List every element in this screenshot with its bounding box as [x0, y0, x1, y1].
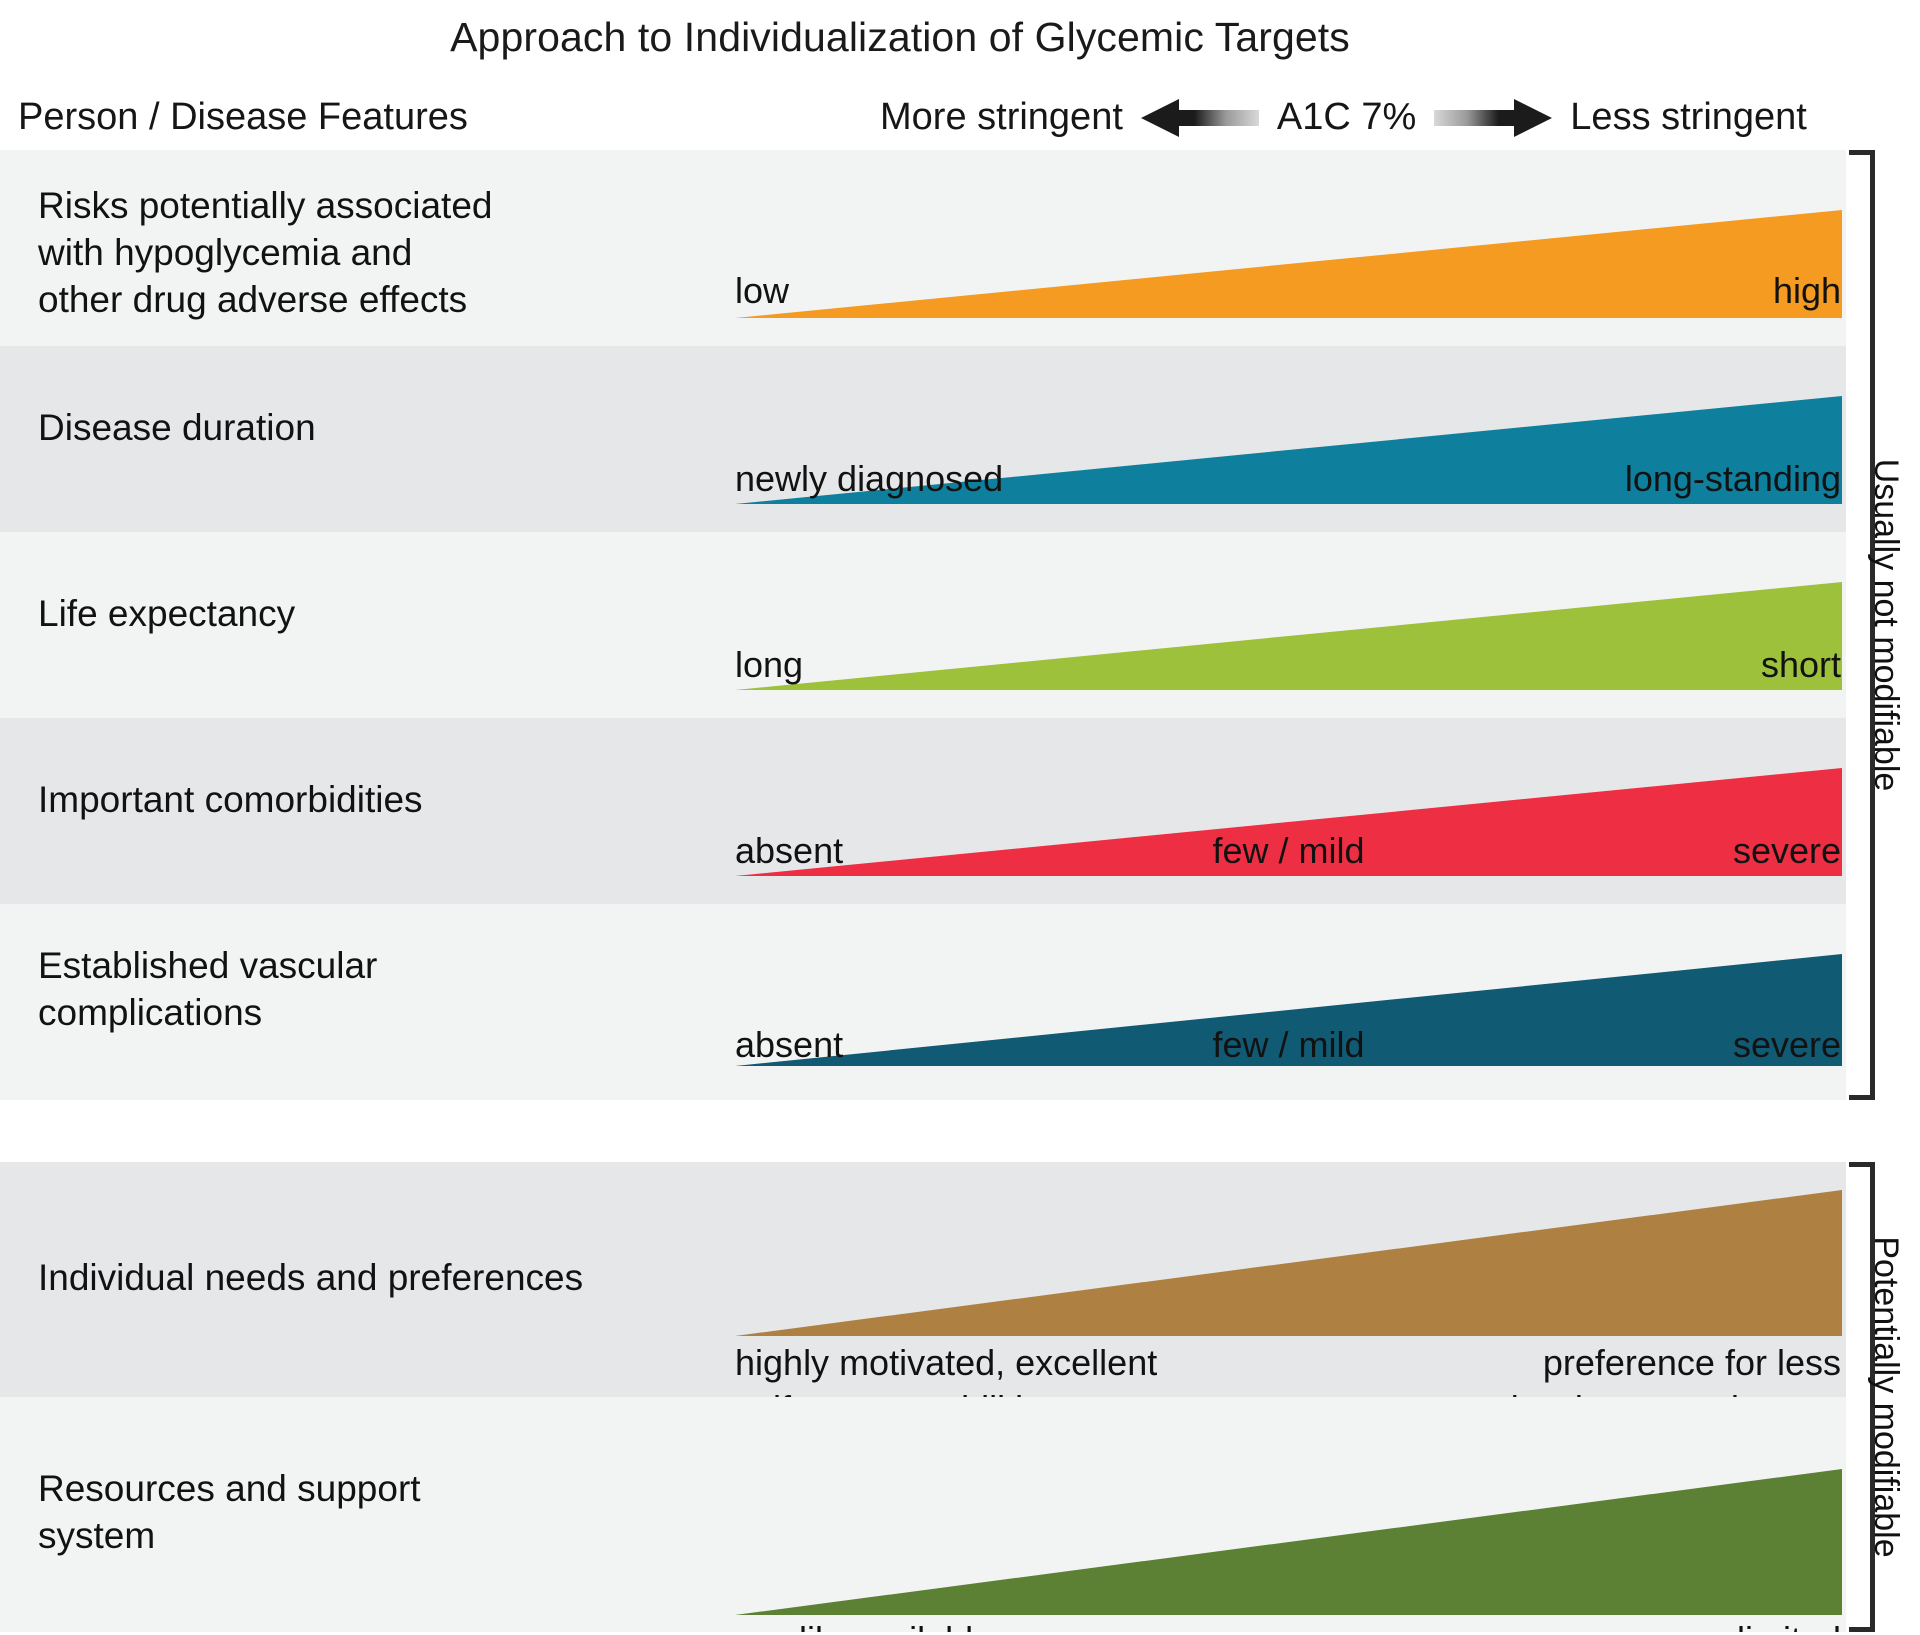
arrow-right-gradient-icon [1434, 98, 1552, 138]
band-group-2: Individual needs and preferences highly … [0, 1162, 1846, 1632]
gradient-wedge [735, 1190, 1842, 1336]
feature-row: Established vascular complications absen… [0, 904, 1846, 1100]
group-bracket-label: Usually not modifiable [1866, 459, 1905, 792]
scale-label-mid: few / mild [735, 828, 1842, 874]
band-group-1: Risks potentially associated with hypogl… [0, 150, 1846, 1100]
scale-label-right: high [1773, 268, 1841, 314]
feature-label: Important comorbidities [38, 776, 423, 823]
feature-row: Disease duration newly diagnosedlong-sta… [0, 346, 1846, 532]
feature-label: Resources and support system [38, 1465, 421, 1559]
page-title: Approach to Individualization of Glycemi… [0, 14, 1800, 61]
scale-label-row: readily availablelimited [735, 1617, 1845, 1632]
feature-label: Life expectancy [38, 590, 295, 637]
feature-label: Individual needs and preferences [38, 1254, 583, 1301]
gradient-wedge [735, 1469, 1842, 1615]
feature-label: Established vascular complications [38, 942, 377, 1036]
feature-row: Risks potentially associated with hypogl… [0, 150, 1846, 346]
group-bracket-label: Potentially modifiable [1866, 1236, 1905, 1557]
feature-label: Disease duration [38, 404, 316, 451]
infographic-root: Approach to Individualization of Glycemi… [0, 0, 1920, 1635]
more-stringent-label: More stringent [880, 96, 1123, 139]
feature-row: Important comorbidities absentfew / mild… [0, 718, 1846, 904]
scale-label-row: longshort [735, 642, 1845, 686]
scale-label-row: lowhigh [735, 268, 1845, 312]
scale-label-right: severe [1733, 1022, 1841, 1068]
scale-label-right: severe [1733, 828, 1841, 874]
scale-label-row: newly diagnosedlong-standing [735, 456, 1845, 500]
scale-label-right: limited [1737, 1617, 1841, 1632]
scale-label-mid: few / mild [735, 1022, 1842, 1068]
a1c-scale-legend: More stringent A1C 7% [880, 96, 1807, 139]
a1c-target-label: A1C 7% [1277, 96, 1416, 139]
scale-label-left: low [735, 268, 789, 314]
scale-label-left: readily available [735, 1617, 993, 1632]
arrow-left-gradient-icon [1141, 98, 1259, 138]
less-stringent-label: Less stringent [1570, 96, 1807, 139]
scale-label-row: highly motivated, excellent self-care ca… [735, 1340, 1845, 1384]
scale-label-right: long-standing [1625, 456, 1841, 502]
scale-label-left: highly motivated, excellent self-care ca… [735, 1340, 1157, 1397]
feature-row: Life expectancy longshort [0, 532, 1846, 718]
features-column-header: Person / Disease Features [18, 96, 468, 139]
feature-label: Risks potentially associated with hypogl… [38, 182, 493, 323]
scale-label-row: absentfew / mildsevere [735, 1022, 1845, 1066]
scale-label-right: short [1761, 642, 1841, 688]
scale-label-row: absentfew / mildsevere [735, 828, 1845, 872]
scale-label-right: preference for less burdensome therapy [1511, 1340, 1841, 1397]
feature-row: Resources and support system readily ava… [0, 1397, 1846, 1632]
feature-row: Individual needs and preferences highly … [0, 1162, 1846, 1397]
scale-label-left: long [735, 642, 803, 688]
scale-label-left: newly diagnosed [735, 456, 1003, 502]
legend-header: Person / Disease Features More stringent [0, 96, 1920, 152]
